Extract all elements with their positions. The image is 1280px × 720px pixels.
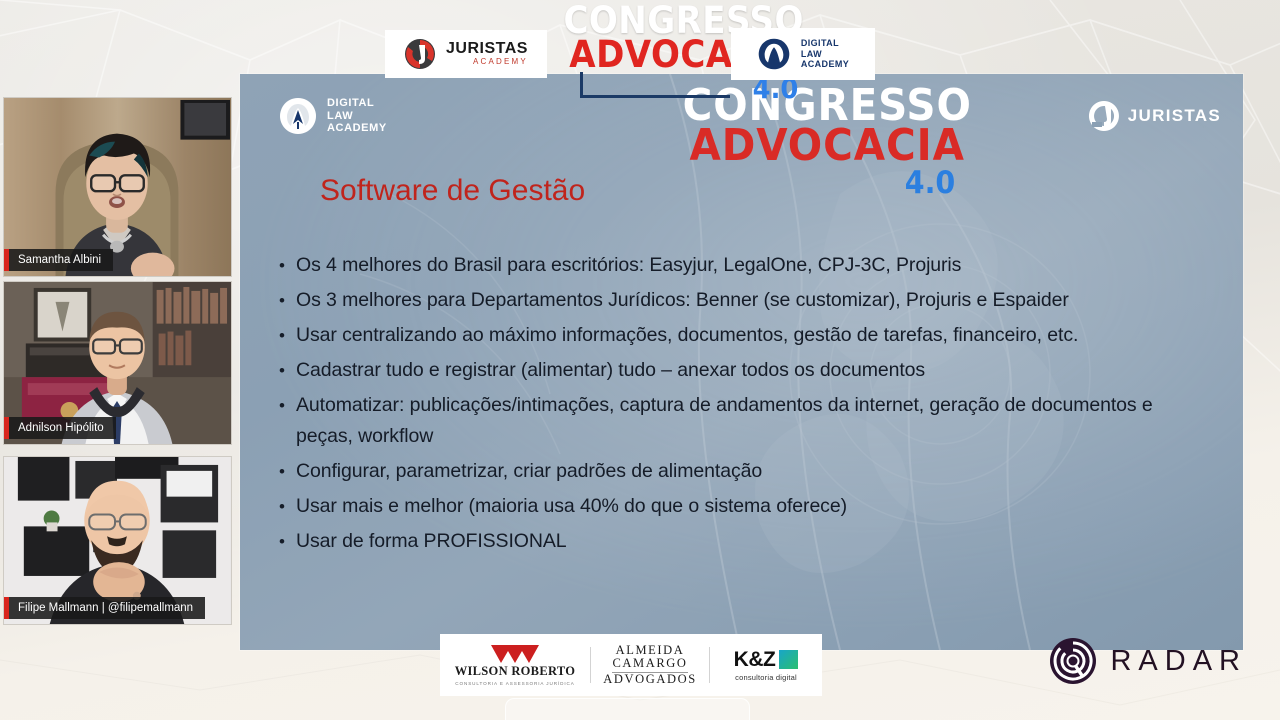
slide-bullet-item: •Os 3 melhores para Departamentos Jurídi…	[268, 285, 1213, 316]
broadcast-stage: Samantha Albini	[0, 0, 1280, 720]
slide-logo-digital-law-academy: DIGITAL LAW ACADEMY	[278, 96, 387, 136]
radar-icon	[1049, 637, 1097, 685]
juristas-academy-icon	[404, 38, 436, 70]
bullet-marker-icon: •	[268, 390, 296, 452]
slide-bullet-item: •Usar mais e melhor (maioria usa 40% do …	[268, 491, 1213, 522]
wilson-roberto-icon	[489, 644, 541, 664]
slide-bullet-text: Configurar, parametrizar, criar padrões …	[296, 456, 762, 487]
slide-logo-juristas: JURISTAS	[1088, 100, 1221, 132]
juristas-sublabel: ACADEMY	[446, 57, 528, 67]
sponsor-wilson-sub: CONSULTORIA E ASSESSORIA JURÍDICA	[455, 681, 574, 686]
digital-law-academy-icon	[278, 96, 318, 136]
sponsor-wilson-name: WILSON ROBERTO	[455, 664, 576, 679]
bullet-marker-icon: •	[268, 491, 296, 522]
bullet-marker-icon: •	[268, 456, 296, 487]
slide-bullet-item: •Cadastrar tudo e registrar (alimentar) …	[268, 355, 1213, 386]
slide-bullet-text: Os 3 melhores para Departamentos Jurídic…	[296, 285, 1069, 316]
participant-tile-2[interactable]: Adnilson Hipólito	[3, 281, 232, 445]
bottom-decoration	[505, 698, 750, 720]
slide-logo-text: DIGITAL LAW ACADEMY	[327, 97, 387, 135]
sponsor-kz: K&Z consultoria digital	[710, 649, 822, 682]
banner-logo-juristas: JURISTAS ACADEMY	[385, 30, 547, 78]
slide-bullet-item: •Automatizar: publicações/intimações, ca…	[268, 390, 1213, 452]
banner-bracket-decoration	[580, 72, 730, 98]
participant-name-badge-1: Samantha Albini	[4, 249, 113, 271]
participant-tile-3[interactable]: Filipe Mallmann | @filipemallmann	[3, 456, 232, 625]
digital-law-academy-icon	[757, 37, 791, 71]
participant-name-1: Samantha Albini	[9, 249, 113, 271]
slide-bullet-item: •Usar de forma PROFISSIONAL	[268, 526, 1213, 557]
banner-logo-digital-law-academy: DIGITAL LAW ACADEMY	[731, 28, 875, 80]
slide-bullet-list: •Os 4 melhores do Brasil para escritório…	[268, 250, 1213, 561]
sponsor-kz-sub: consultoria digital	[735, 673, 797, 682]
sponsor-wilson-roberto: WILSON ROBERTO CONSULTORIA E ASSESSORIA …	[440, 644, 590, 686]
watermark-line-2: ADVOCACIA	[683, 126, 972, 166]
slide-bullet-item: •Usar centralizando ao máximo informaçõe…	[268, 320, 1213, 351]
sponsor-almeida-l1: ALMEIDA	[616, 644, 685, 658]
slide-bullet-item: •Os 4 melhores do Brasil para escritório…	[268, 250, 1213, 281]
slide-bullet-text: Usar centralizando ao máximo informações…	[296, 320, 1078, 351]
bullet-marker-icon: •	[268, 355, 296, 386]
radar-label: RADAR	[1110, 645, 1247, 678]
slide-bullet-text: Cadastrar tudo e registrar (alimentar) t…	[296, 355, 925, 386]
sponsor-kz-row: K&Z	[734, 649, 799, 670]
sponsor-kz-name: K&Z	[734, 649, 776, 670]
slide-logo-juristas-text: JURISTAS	[1128, 106, 1221, 126]
bullet-marker-icon: •	[268, 285, 296, 316]
presentation-slide[interactable]: DIGITAL LAW ACADEMY JURISTAS CONGRESSO A…	[240, 74, 1243, 650]
bullet-marker-icon: •	[268, 320, 296, 351]
sponsor-bar: WILSON ROBERTO CONSULTORIA E ASSESSORIA …	[440, 634, 822, 696]
participant-tile-1[interactable]: Samantha Albini	[3, 97, 232, 277]
slide-congresso-watermark: CONGRESSO ADVOCACIA 4.0	[683, 86, 972, 197]
bullet-marker-icon: •	[268, 250, 296, 281]
sponsor-almeida-l2: CAMARGO	[612, 657, 687, 673]
slide-bullet-text: Automatizar: publicações/intimações, cap…	[296, 390, 1213, 452]
participant-name-badge-2: Adnilson Hipólito	[4, 417, 116, 439]
juristas-label: JURISTAS	[446, 41, 528, 57]
participant-name-2: Adnilson Hipólito	[9, 417, 116, 439]
slide-title: Software de Gestão	[320, 174, 585, 208]
kz-square-icon	[779, 650, 798, 669]
sponsor-almeida-camargo: ALMEIDA CAMARGO ADVOGADOS	[591, 644, 709, 687]
slide-bullet-item: •Configurar, parametrizar, criar padrões…	[268, 456, 1213, 487]
slide-bullet-text: Usar de forma PROFISSIONAL	[296, 526, 566, 557]
radar-watermark: RADAR	[1049, 637, 1247, 685]
bullet-marker-icon: •	[268, 526, 296, 557]
participant-name-3: Filipe Mallmann | @filipemallmann	[9, 597, 205, 619]
slide-bullet-text: Os 4 melhores do Brasil para escritórios…	[296, 250, 961, 281]
watermark-line-3: 4.0	[683, 169, 972, 198]
participant-name-badge-3: Filipe Mallmann | @filipemallmann	[4, 597, 205, 619]
juristas-icon	[1088, 100, 1120, 132]
slide-bullet-text: Usar mais e melhor (maioria usa 40% do q…	[296, 491, 847, 522]
sponsor-almeida-l3: ADVOGADOS	[603, 673, 697, 687]
banner-dla-text: DIGITAL LAW ACADEMY	[801, 38, 849, 70]
